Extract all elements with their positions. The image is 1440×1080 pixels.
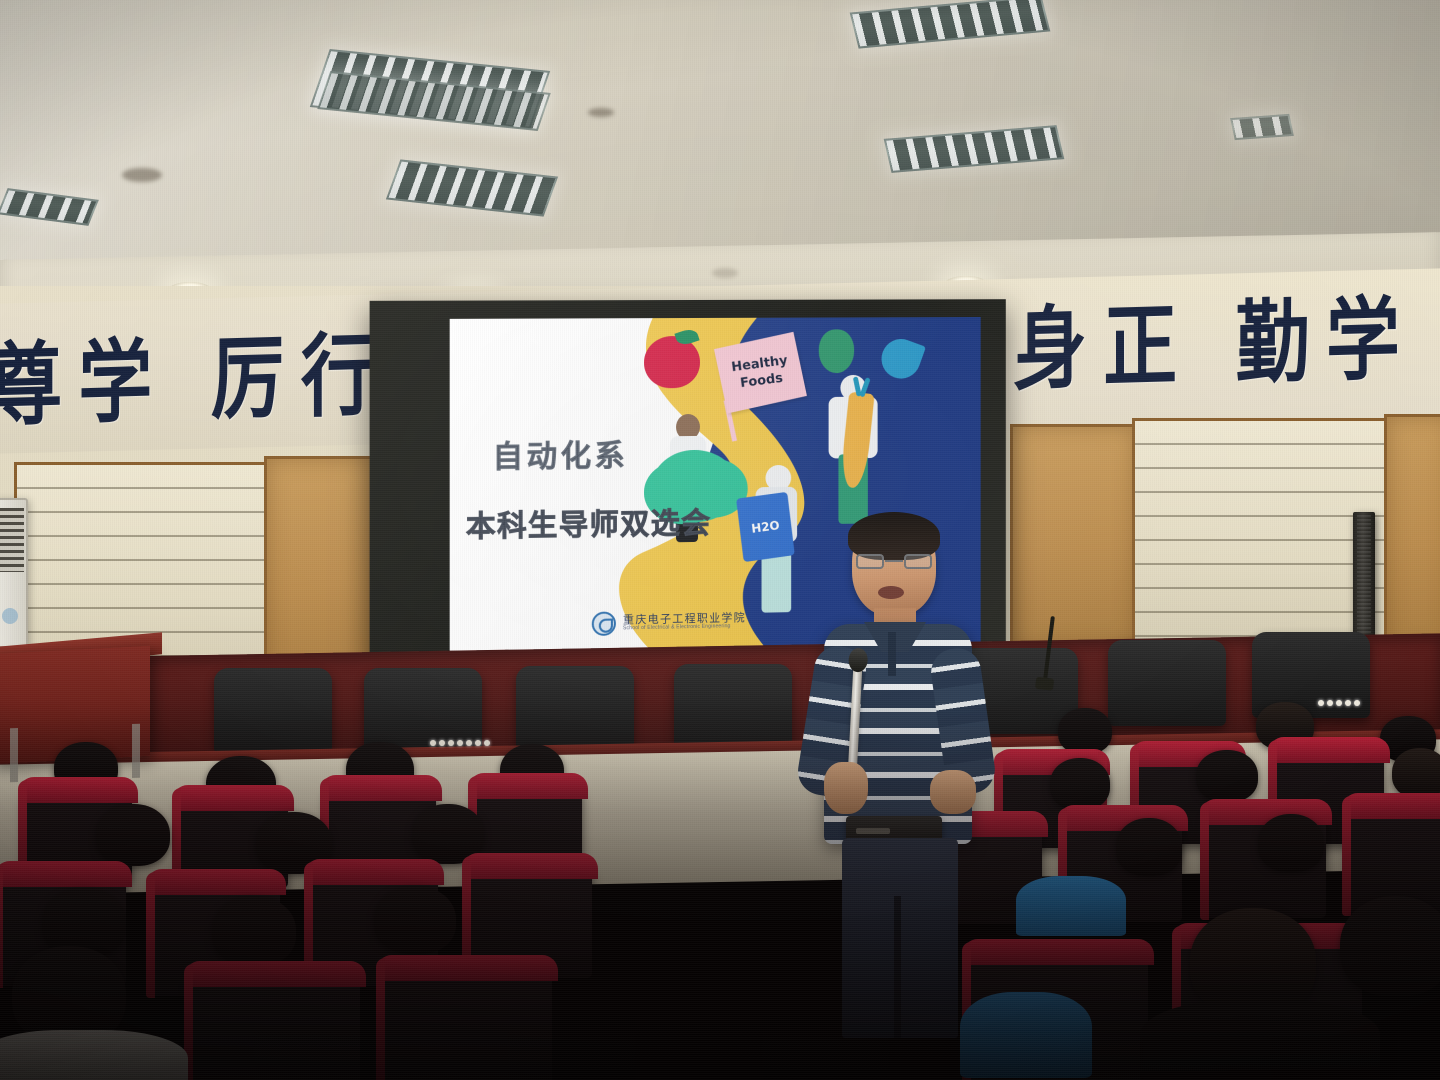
presenter-mouth <box>878 586 904 599</box>
audience-head <box>1196 750 1258 802</box>
audience-seating <box>0 700 1440 1080</box>
placard-line-2: Foods <box>739 371 783 391</box>
auditorium-seat[interactable] <box>190 968 360 1080</box>
wall-calligraphy-left: 尊学 厉行 <box>0 330 391 432</box>
ceiling-vent-icon <box>122 168 162 182</box>
audience-head <box>212 896 296 966</box>
school-logo: 重庆电子工程职业学院 School of Electrical & Electr… <box>592 609 746 636</box>
audience-head <box>1050 758 1110 810</box>
slide-subtitle: 本科生导师双选会 <box>466 500 712 546</box>
wood-wall-panel <box>1384 414 1440 652</box>
audience-head <box>96 804 170 866</box>
slide-title: 自动化系 <box>493 431 629 477</box>
ceiling-vent-icon <box>588 108 614 117</box>
audience-head <box>1116 818 1182 876</box>
audience-shoulders-foreground <box>1140 1000 1380 1080</box>
healthy-foods-placard: Healthy Foods <box>714 332 807 414</box>
water-bottle-icon: H2O <box>736 492 795 562</box>
lecture-hall-photo: 尊学 厉行 身正 勤学 Healthy Foods <box>0 0 1440 1080</box>
school-logo-english: School of Electrical & Electronic Engine… <box>623 624 746 632</box>
wood-wall-panel <box>1010 424 1138 650</box>
ceiling-light-panel <box>1230 114 1294 140</box>
audience-head <box>374 886 456 954</box>
presenter-right-hand <box>930 770 976 814</box>
air-conditioner-unit <box>0 498 28 648</box>
ceiling-smoke-detector-icon <box>712 268 738 278</box>
wall-calligraphy-right: 身正 勤学 <box>1013 294 1416 396</box>
audience-head-foreground <box>1340 896 1440 996</box>
presenter-left-hand <box>824 762 868 814</box>
audience-head <box>1392 748 1440 798</box>
audience-shoulders <box>1016 876 1126 936</box>
audience-head <box>1258 814 1324 872</box>
audience-shoulders-foreground <box>0 1030 188 1080</box>
apple-icon <box>644 336 700 388</box>
pear-icon <box>819 329 854 373</box>
presenter-hair <box>848 512 940 560</box>
presenter <box>818 516 998 1036</box>
glasses-icon <box>856 554 932 570</box>
presenter-placket <box>888 632 896 676</box>
audience-head <box>1058 708 1112 754</box>
presenter-trousers <box>842 838 958 1038</box>
auditorium-seat[interactable] <box>382 962 552 1080</box>
school-logo-icon <box>592 611 616 636</box>
